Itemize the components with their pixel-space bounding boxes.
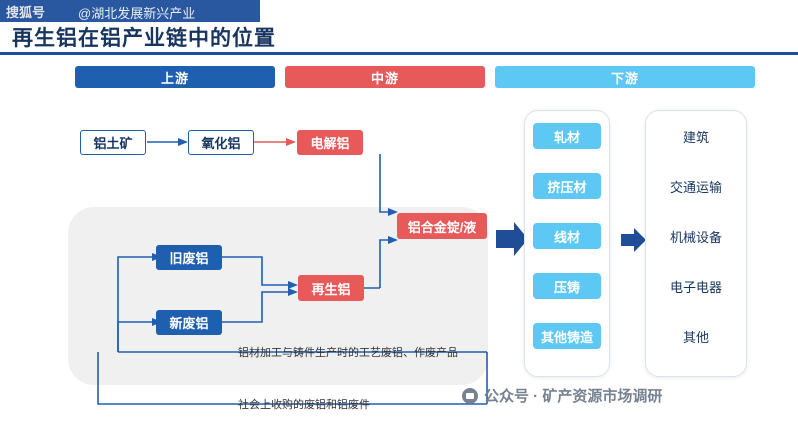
- box-aluminum-alloy-ingot[interactable]: 铝合金锭/液: [397, 213, 487, 239]
- header-midstream: 中游: [285, 66, 485, 88]
- sector-item-2[interactable]: 机械设备: [646, 223, 746, 249]
- product-item-0[interactable]: 轧材: [533, 123, 601, 149]
- note-process-scrap: 铝材加工与铸件生产时的工艺废铝、作废产品: [238, 344, 458, 360]
- header-downstream: 下游: [495, 66, 755, 88]
- header-upstream: 上游: [75, 66, 275, 88]
- product-item-1[interactable]: 挤压材: [533, 173, 601, 199]
- watermark-account-name: @湖北发展新兴产业: [78, 3, 195, 22]
- sector-item-1[interactable]: 交通运输: [646, 173, 746, 199]
- box-electrolytic-aluminum[interactable]: 电解铝: [297, 130, 363, 155]
- sector-item-4[interactable]: 其他: [646, 323, 746, 349]
- product-item-4[interactable]: 其他铸造: [533, 323, 601, 349]
- title-underline: [0, 52, 798, 55]
- sector-item-3[interactable]: 电子电器: [646, 273, 746, 299]
- box-new-scrap[interactable]: 新废铝: [156, 310, 222, 335]
- note-social-scrap: 社会上收购的废铝和铝废件: [238, 396, 370, 412]
- downstream-products-panel: 轧材 挤压材 线材 压铸 其他铸造: [524, 110, 610, 377]
- watermark-bottom: 公众号 · 矿产资源市场调研: [462, 385, 662, 406]
- product-item-2[interactable]: 线材: [533, 223, 601, 249]
- product-item-3[interactable]: 压铸: [533, 273, 601, 299]
- box-bauxite[interactable]: 铝土矿: [80, 130, 146, 155]
- box-recycled-aluminum[interactable]: 再生铝: [298, 275, 364, 301]
- sector-item-0[interactable]: 建筑: [646, 123, 746, 149]
- downstream-sectors-panel: 建筑 交通运输 机械设备 电子电器 其他: [645, 110, 747, 377]
- box-old-scrap[interactable]: 旧废铝: [156, 245, 222, 270]
- watermark-bottom-label: 公众号 · 矿产资源市场调研: [484, 385, 662, 406]
- watermark-sohu-label: 搜狐号: [6, 2, 45, 21]
- wechat-icon: [462, 388, 478, 404]
- box-alumina[interactable]: 氧化铝: [188, 130, 254, 155]
- page-title: 再生铝在铝产业链中的位置: [12, 22, 276, 52]
